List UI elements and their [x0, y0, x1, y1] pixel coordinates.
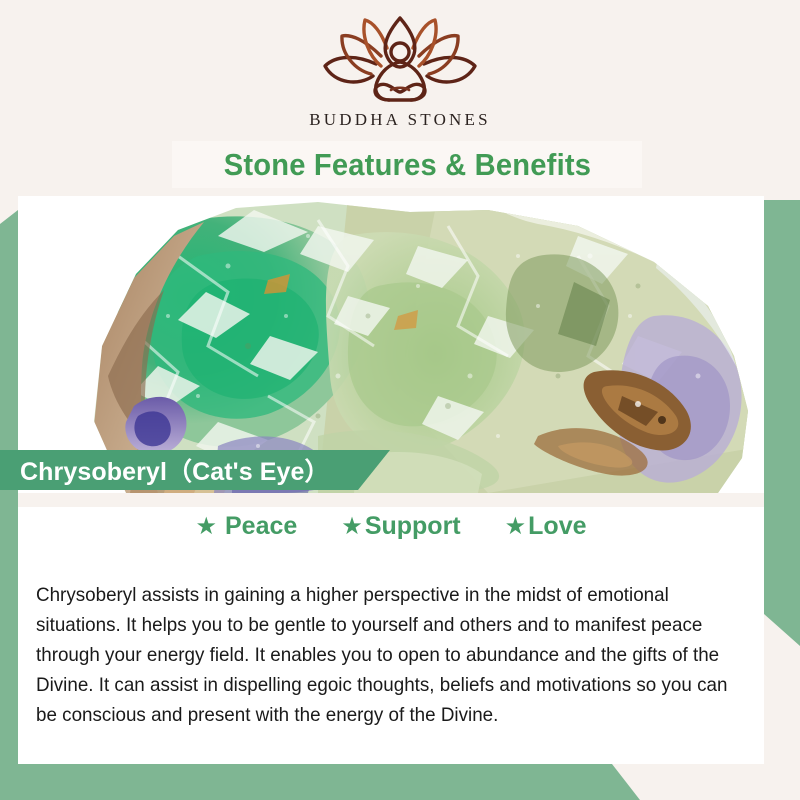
page-title: Stone Features & Benefits [223, 147, 590, 183]
poster-header: BUDDHA STONES Stone Features & Benefits [0, 0, 800, 200]
star-icon: ★ [195, 515, 217, 539]
stone-name-banner: Chrysoberyl（Cat's Eye） [0, 450, 390, 490]
benefit-label-love: Love [528, 512, 586, 541]
stone-photo [18, 196, 764, 493]
title-panel: Stone Features & Benefits [172, 141, 642, 188]
stone-info-poster: BUDDHA STONES Stone Features & Benefits [0, 0, 800, 800]
stone-photo-art [18, 196, 764, 493]
benefit-label-support: Support [365, 512, 461, 541]
stone-name: Chrysoberyl（Cat's Eye） [0, 452, 330, 488]
benefits-row: ★ Peace ★ Support ★ Love [18, 512, 764, 541]
brand-name: BUDDHA STONES [0, 110, 800, 130]
benefit-label-peace: Peace [225, 512, 297, 541]
stone-description: Chrysoberyl assists in gaining a higher … [36, 580, 740, 730]
photo-bottom-strip [18, 493, 764, 507]
benefit-item-peace: ★ Peace [195, 512, 297, 541]
brand-logo: BUDDHA STONES [0, 14, 800, 130]
benefit-item-love: ★ Love [505, 512, 587, 541]
star-icon: ★ [505, 515, 527, 539]
benefit-item-support: ★ Support [341, 512, 460, 541]
star-icon: ★ [341, 515, 363, 539]
lotus-meditation-icon [315, 14, 485, 106]
frame-bottom-band [0, 764, 800, 800]
